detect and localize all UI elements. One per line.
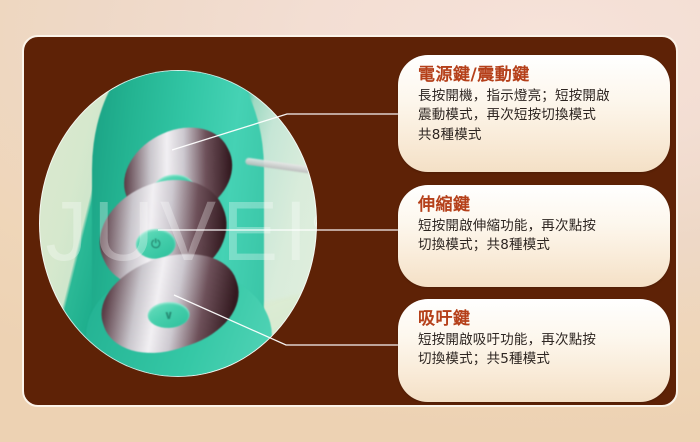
callout-title: 伸縮鍵 <box>418 195 660 216</box>
product-feature-infographic: ⌇ ⏻ ∨ JUVEI® 電 <box>0 0 700 442</box>
chevron-down-icon: ∨ <box>147 301 190 328</box>
callout-body-line: 切換模式；共8種模式 <box>418 236 660 255</box>
product-photo: ⌇ ⏻ ∨ JUVEI® <box>39 70 317 377</box>
registered-trademark-icon: ® <box>313 207 317 237</box>
callout-body: 長按開機，指示燈亮；短按開啟 震動模式，再次短按切換模式 共8種模式 <box>418 87 660 144</box>
callout-telescopic: 伸縮鍵 短按開啟伸縮功能，再次點按 切換模式；共8種模式 <box>398 185 670 287</box>
callout-body-line: 共8種模式 <box>418 126 660 145</box>
callout-body-line: 震動模式，再次短按切換模式 <box>418 106 660 125</box>
callout-suction: 吸吁鍵 短按開啟吸吁功能，再次點按 切換模式；共5種模式 <box>398 299 670 402</box>
callout-body-line: 短按開啟伸縮功能，再次點按 <box>418 217 660 236</box>
callout-body-line: 切換模式；共5種模式 <box>418 350 660 369</box>
callout-body: 短按開啟伸縮功能，再次點按 切換模式；共8種模式 <box>418 217 660 255</box>
callout-title: 吸吁鍵 <box>418 309 660 330</box>
callout-body-line: 短按開啟吸吁功能，再次點按 <box>418 331 660 350</box>
callout-title: 電源鍵/震動鍵 <box>418 65 660 86</box>
suction-button: ∨ <box>147 301 190 328</box>
callout-power-vibration: 電源鍵/震動鍵 長按開機，指示燈亮；短按開啟 震動模式，再次短按切換模式 共8種… <box>398 55 670 172</box>
callout-body-line: 長按開機，指示燈亮；短按開啟 <box>418 87 660 106</box>
content-panel: ⌇ ⏻ ∨ JUVEI® 電 <box>22 35 678 407</box>
callout-body: 短按開啟吸吁功能，再次點按 切換模式；共5種模式 <box>418 331 660 369</box>
